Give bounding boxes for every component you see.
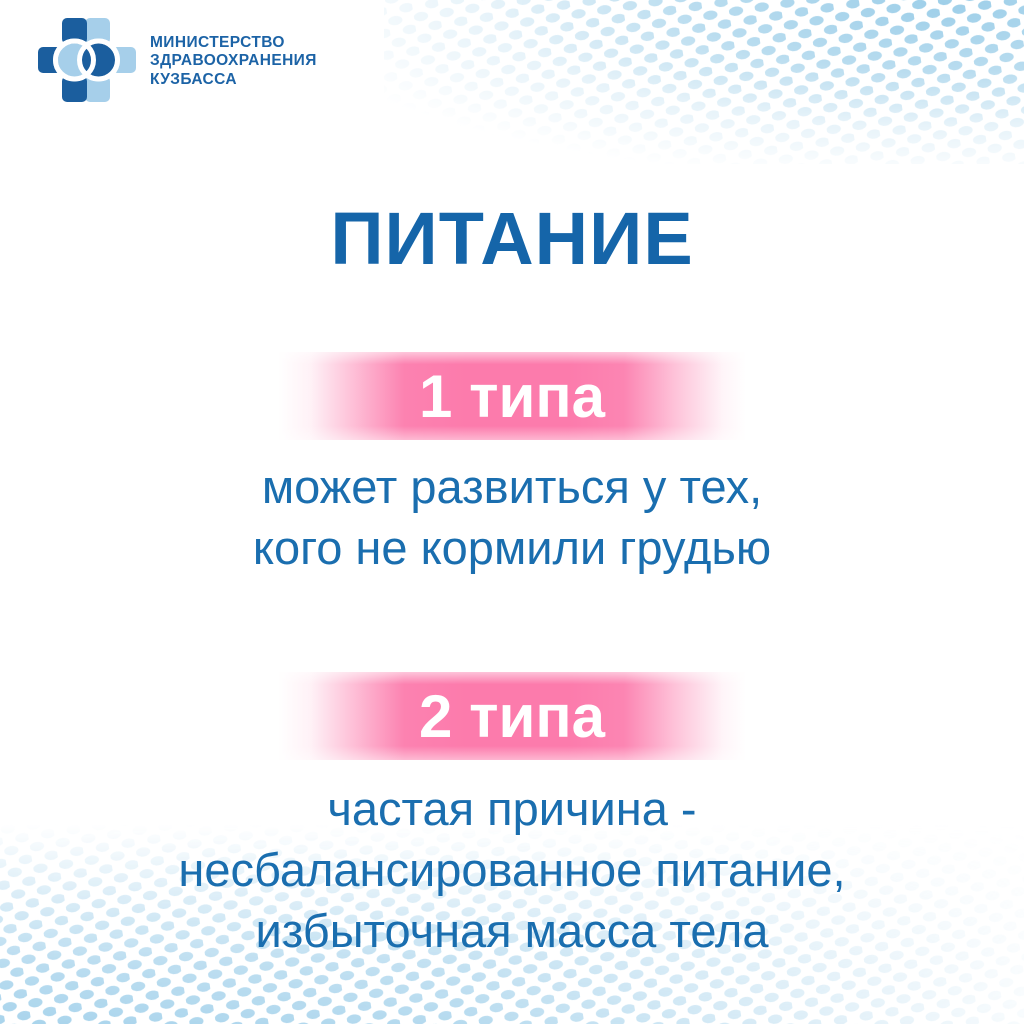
brand-line-3: КУЗБАССА [150,71,317,88]
type-2-badge: 2 типа [278,672,746,760]
brand-line-2: ЗДРАВООХРАНЕНИЯ [150,52,317,69]
type-1-description-line-1: может развиться у тех, [0,456,1024,517]
diabetes-type-1-block: 1 типа может развиться у тех, кого не ко… [0,352,1024,578]
type-1-description: может развиться у тех, кого не кормили г… [0,456,1024,578]
type-2-description-line-1: частая причина - [0,778,1024,839]
type-1-badge-label: 1 типа [419,362,605,431]
badge-wrap-type-2: 2 типа [0,672,1024,760]
diabetes-type-2-block: 2 типа частая причина - несбалансированн… [0,672,1024,961]
type-2-description-line-3: избыточная масса тела [0,900,1024,961]
type-2-description-line-2: несбалансированное питание, [0,839,1024,900]
page-title: ПИТАНИЕ [0,196,1024,281]
halftone-dots-top-right [384,0,1024,164]
type-2-badge-label: 2 типа [419,682,605,751]
poster-canvas: МИНИСТЕРСТВО ЗДРАВООХРАНЕНИЯ КУЗБАССА ПИ… [0,0,1024,1024]
brand-line-1: МИНИСТЕРСТВО [150,34,317,51]
type-2-description: частая причина - несбалансированное пита… [0,778,1024,961]
type-1-badge: 1 типа [278,352,746,440]
ministry-wordmark: МИНИСТЕРСТВО ЗДРАВООХРАНЕНИЯ КУЗБАССА [150,32,317,88]
type-1-description-line-2: кого не кормили грудью [0,517,1024,578]
badge-wrap-type-1: 1 типа [0,352,1024,440]
kuzbass-health-ministry-cross-logo [36,14,138,106]
ministry-logo-lockup: МИНИСТЕРСТВО ЗДРАВООХРАНЕНИЯ КУЗБАССА [36,14,317,106]
